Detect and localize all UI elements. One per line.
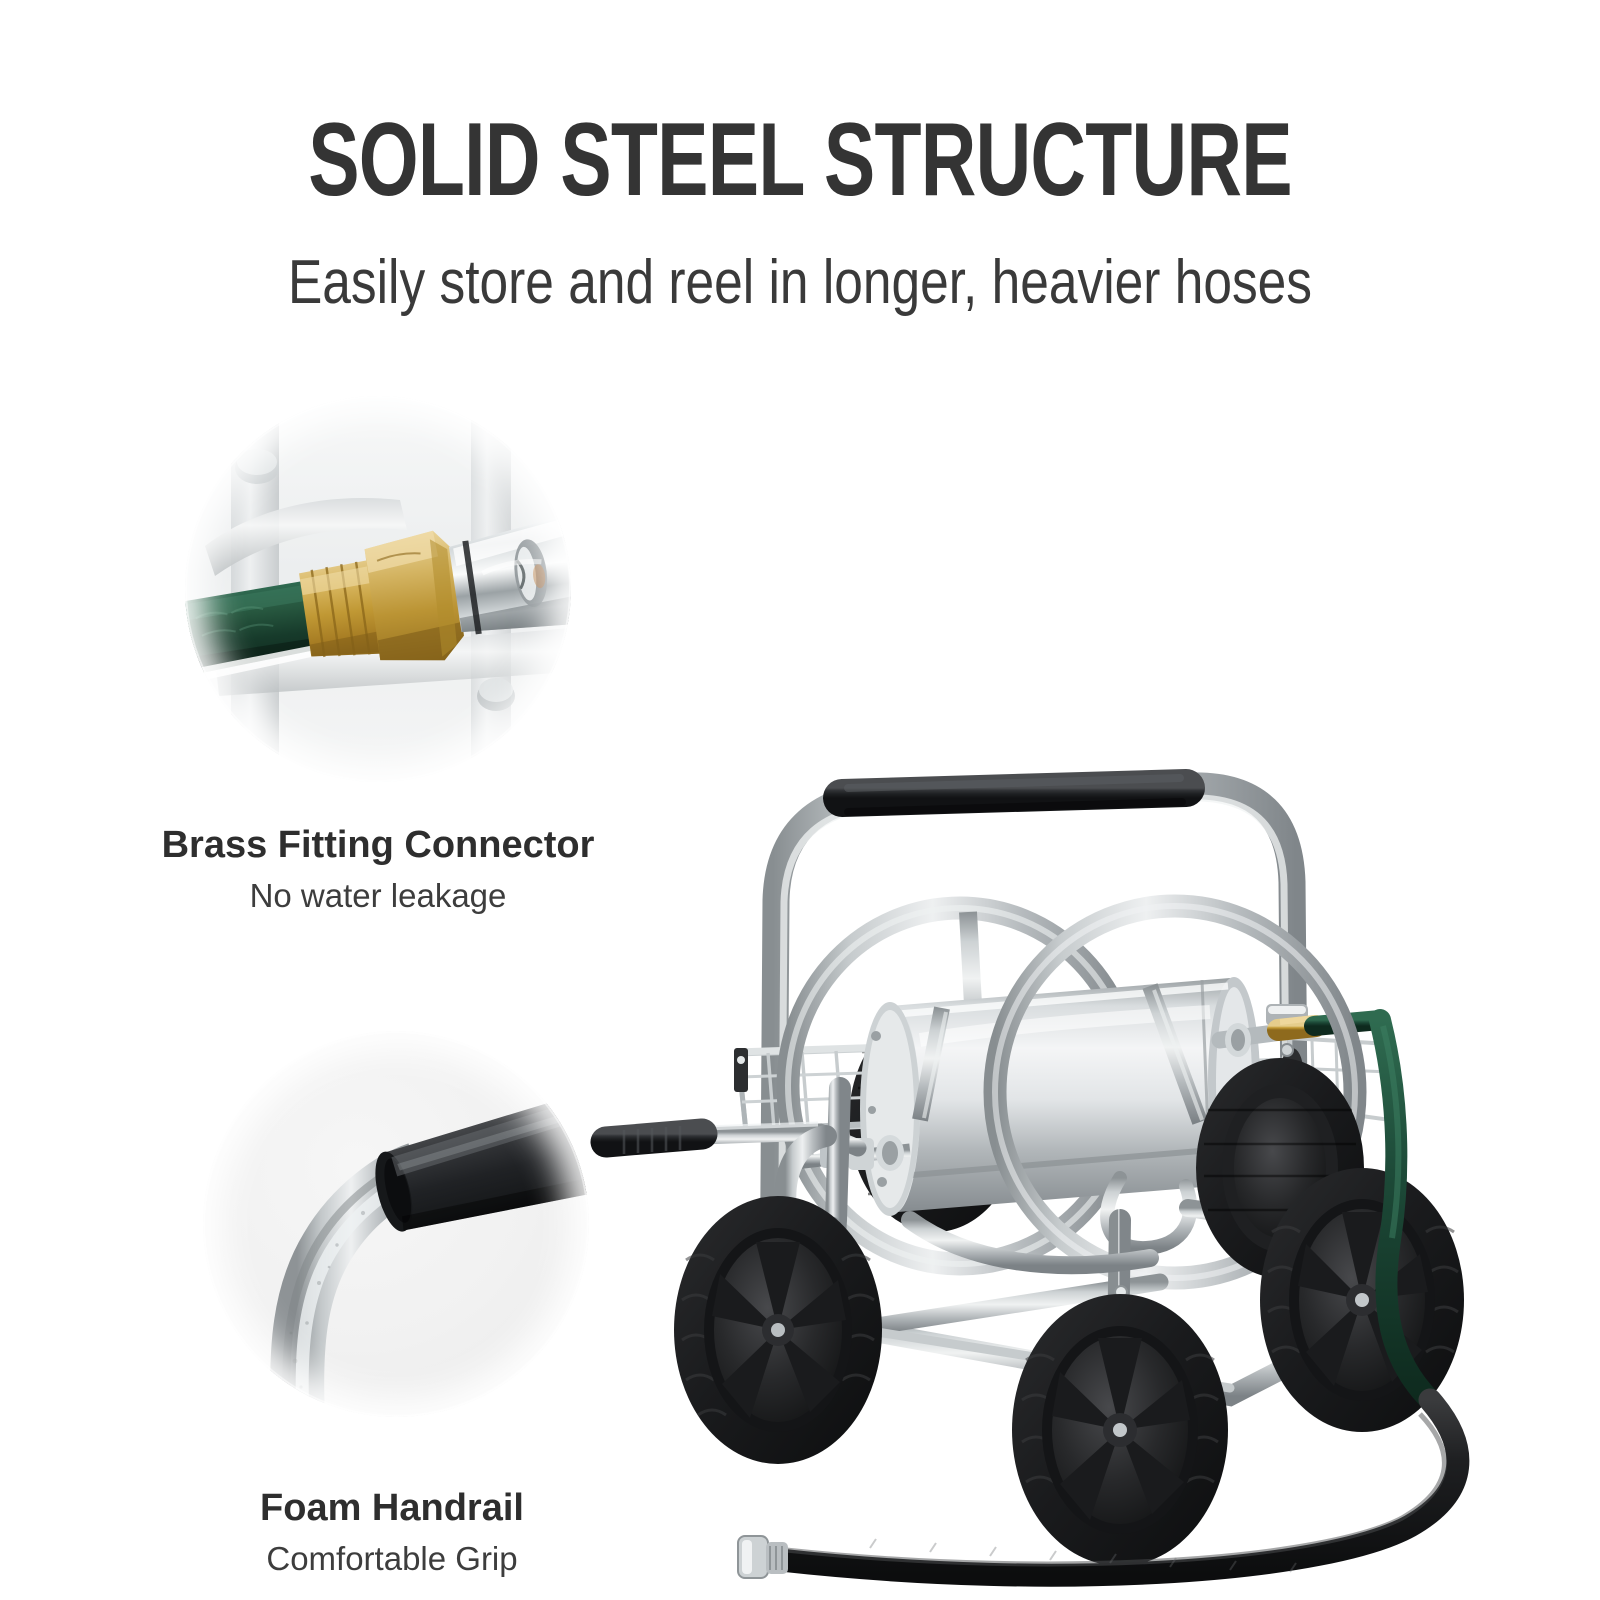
brass-fitting-closeup-image (185, 396, 571, 782)
crank-foam-grip (606, 1126, 702, 1154)
feature-subtitle-brass-fitting: No water leakage (98, 876, 658, 916)
feature-subtitle-foam-handrail: Comfortable Grip (112, 1539, 672, 1579)
feature-caption-brass-fitting: Brass Fitting Connector No water leakage (98, 824, 658, 915)
feature-title-foam-handrail: Foam Handrail (112, 1487, 672, 1531)
foam-handle-grip (842, 778, 1186, 812)
foam-handrail-closeup-image (203, 1031, 589, 1417)
wheel-front-centre (1012, 1294, 1228, 1566)
feature-caption-foam-handrail: Foam Handrail Comfortable Grip (112, 1487, 672, 1578)
chrome-hose-connector (738, 1536, 788, 1578)
feature-title-brass-fitting: Brass Fitting Connector (98, 824, 658, 868)
wheel-front-left (674, 1196, 882, 1464)
page-subtitle: Easily store and reel in longer, heavier… (136, 252, 1464, 314)
page-title: SOLID STEEL STRUCTURE (208, 108, 1392, 212)
product-image-hose-reel-cart (590, 420, 1600, 1600)
